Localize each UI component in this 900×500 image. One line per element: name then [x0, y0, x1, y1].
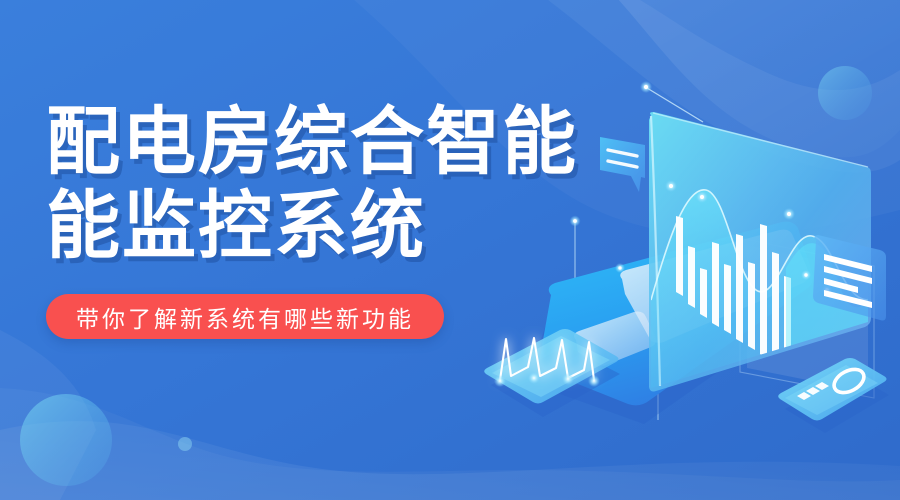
headline-block: 配电房综合智能 能监控系统 带你了解新系统有哪些新功能 [46, 100, 566, 339]
promo-banner: 配电房综合智能 能监控系统 带你了解新系统有哪些新功能 [0, 0, 900, 500]
page-title-line-2: 能监控系统 [46, 184, 566, 268]
page-title-line-1: 配电房综合智能 [46, 100, 566, 184]
speech-bubble [600, 137, 645, 192]
subtitle-badge[interactable]: 带你了解新系统有哪些新功能 [46, 294, 444, 339]
glow-trail-top [640, 81, 703, 122]
